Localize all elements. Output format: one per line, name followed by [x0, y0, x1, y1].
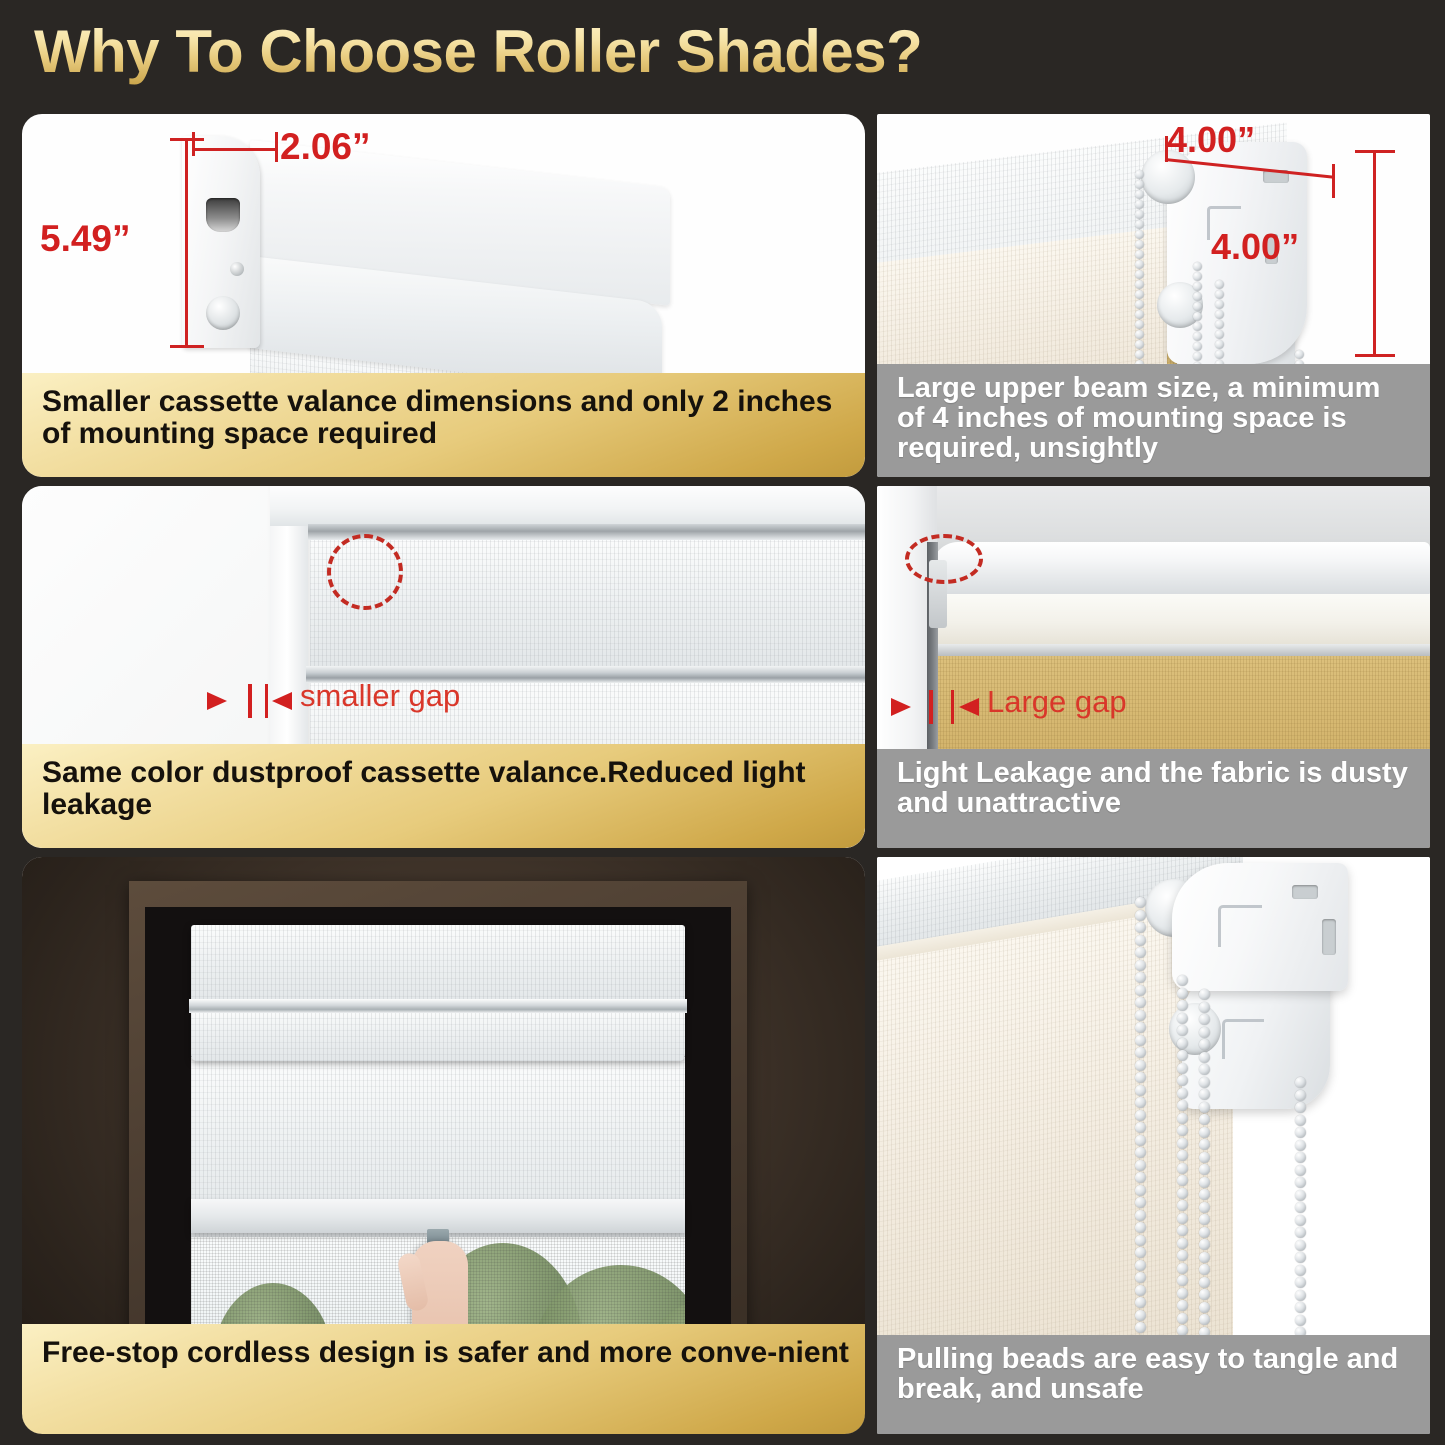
- panel-1-caption: Smaller cassette valance dimensions and …: [22, 373, 865, 477]
- upper-beam: [932, 542, 1430, 598]
- panel-3-caption: Same color dustproof cassette valance.Re…: [22, 744, 865, 848]
- panel-1-cassette-valance: 2.06” 5.49” Smaller cassette valance dim…: [22, 114, 865, 477]
- gap-arrow-right-icon: [272, 692, 292, 710]
- gap-label: smaller gap: [300, 678, 460, 714]
- end-cap-slot-icon: [206, 198, 240, 232]
- dim-line-width: [192, 148, 278, 151]
- dim-line-height: [1373, 150, 1376, 356]
- mounting-bracket-front: [1172, 863, 1348, 991]
- panel-2-large-beam: 4.00” 4.00” Large upper beam size, a min…: [877, 114, 1430, 477]
- valance-lower-lip: [191, 1009, 685, 1061]
- beam-fascia: [935, 594, 1430, 646]
- comparison-grid: 2.06” 5.49” Smaller cassette valance dim…: [0, 103, 1445, 1445]
- highlight-ellipse-icon: [327, 534, 403, 610]
- bracket-emboss-icon: [1218, 905, 1262, 947]
- dim-label-height: 5.49”: [40, 218, 131, 260]
- bead-chain[interactable]: [1295, 1077, 1306, 1365]
- end-cap-knob-icon: [206, 296, 240, 330]
- highlight-ellipse-icon: [905, 534, 983, 584]
- dim-label-width: 2.06”: [280, 126, 371, 168]
- cassette-valance-edge: [308, 524, 865, 540]
- window-head-trim: [270, 486, 865, 526]
- dim-line-height: [185, 138, 188, 348]
- panel-4-caption: Light Leakage and the fabric is dusty an…: [877, 749, 1430, 848]
- beam-lip: [935, 644, 1430, 656]
- bracket-emboss-icon: [1222, 1019, 1264, 1059]
- gap-marker: [248, 684, 252, 718]
- panel-5-cordless-design: Free-stop cordless design is safer and m…: [22, 857, 865, 1434]
- dim-label-width: 4.00”: [1167, 119, 1255, 161]
- dim-tick-left: [192, 132, 195, 156]
- panel-3-dustproof-valance: smaller gap Same color dustproof cassett…: [22, 486, 865, 848]
- bracket-slot-icon: [1322, 919, 1336, 955]
- dim-tick-bottom: [170, 345, 204, 348]
- cassette-valance: [191, 925, 685, 1003]
- gap-label: Large gap: [987, 684, 1127, 720]
- panel-6-pulling-beads: Pulling beads are easy to tangle and bre…: [877, 857, 1430, 1434]
- bracket-slot-icon: [1292, 885, 1318, 899]
- dim-tick-bottom: [1355, 354, 1395, 357]
- gap-marker: [951, 690, 954, 724]
- valance-rail: [189, 999, 687, 1013]
- page-title: Why To Choose Roller Shades?: [34, 17, 922, 86]
- dim-label-height: 4.00”: [1211, 226, 1299, 268]
- header: Why To Choose Roller Shades?: [0, 0, 1445, 103]
- panel-6-caption: Pulling beads are easy to tangle and bre…: [877, 1335, 1430, 1434]
- dim-tick-right: [1332, 164, 1335, 198]
- dim-tick-right: [275, 132, 278, 162]
- panel-5-caption: Free-stop cordless design is safer and m…: [22, 1324, 865, 1434]
- gap-marker: [929, 690, 933, 724]
- panel-4-light-leakage: Large gap Light Leakage and the fabric i…: [877, 486, 1430, 848]
- valance-end-cap: [182, 136, 260, 348]
- gap-arrow-right-icon: [959, 698, 979, 716]
- screw-icon: [230, 262, 244, 276]
- gap-marker: [265, 684, 268, 718]
- panel-2-caption: Large upper beam size, a minimum of 4 in…: [877, 364, 1430, 477]
- gap-arrow-left-icon: [891, 698, 911, 716]
- bottom-rail: [191, 1199, 685, 1233]
- gap-arrow-left-icon: [207, 692, 227, 710]
